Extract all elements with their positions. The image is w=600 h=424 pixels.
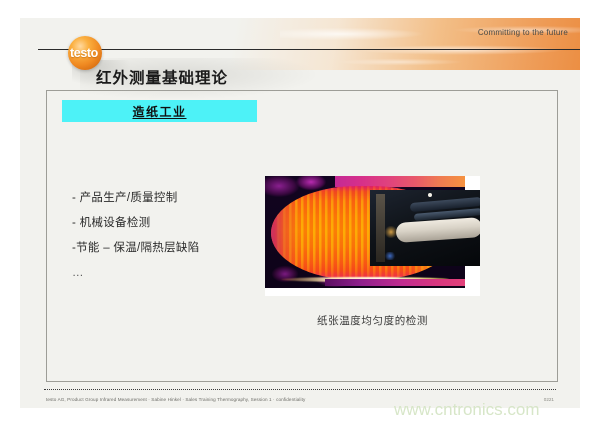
photo-inset — [370, 190, 480, 266]
testo-logo-wordmark: testo — [70, 46, 114, 60]
presentation-slide: Committing to the future testo 红外测量基础理论 … — [20, 18, 580, 408]
thermal-bottom-strip — [325, 279, 465, 286]
bullet-item: - 产品生产/质量控制 — [72, 186, 267, 211]
header-rule — [38, 49, 580, 50]
site-watermark: www.cntronics.com — [394, 400, 539, 420]
photo-light-dot — [428, 193, 432, 197]
slide-title: 红外测量基础理论 — [96, 66, 228, 88]
bullet-ellipsis: … — [72, 261, 267, 285]
photo-highlight — [384, 226, 398, 238]
subtitle-box: 造纸工业 — [62, 100, 257, 122]
thermal-image-container — [265, 176, 480, 296]
footer-text: testo AG, Product Group Infrared Measure… — [46, 397, 305, 402]
footer-divider — [44, 389, 556, 390]
subtitle-text: 造纸工业 — [132, 103, 186, 120]
image-caption: 纸张温度均匀度的检测 — [265, 313, 480, 328]
company-tagline: Committing to the future — [478, 28, 568, 37]
bullet-item: - 机械设备检测 — [72, 211, 267, 236]
bullet-list: - 产品生产/质量控制 - 机械设备检测 -节能 – 保温/隔热层缺陷 … — [72, 186, 267, 285]
bullet-item: -节能 – 保温/隔热层缺陷 — [72, 236, 267, 261]
footer-page-number: 0221 — [544, 397, 554, 402]
photo-blue-highlight — [384, 252, 396, 260]
